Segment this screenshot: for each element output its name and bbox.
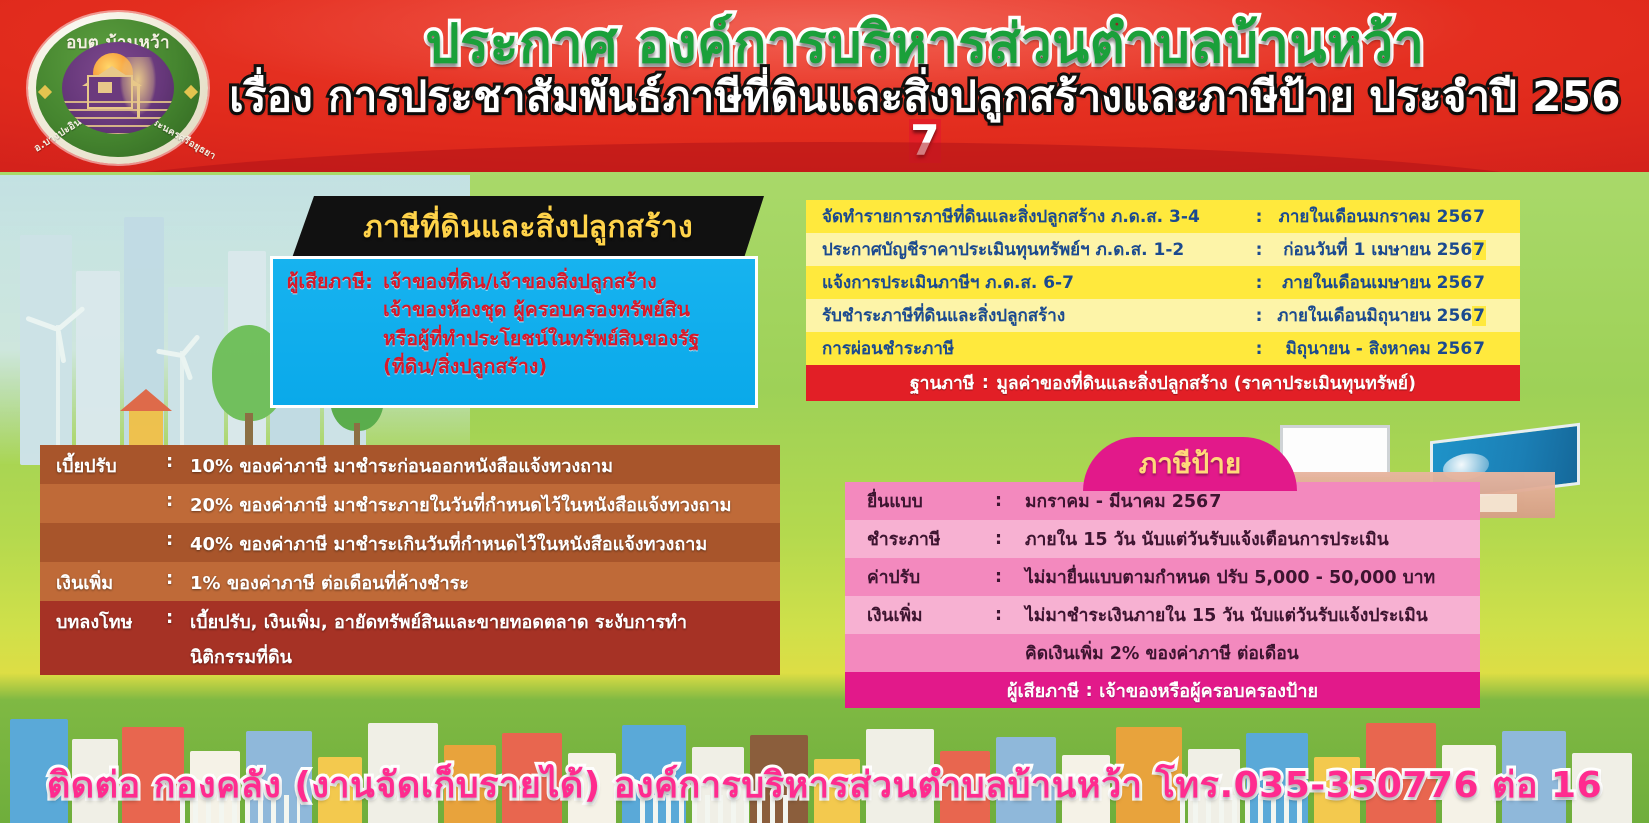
schedule-value-2: ภายในเดือนเมษายน 2567: [1272, 269, 1520, 296]
table-row: แจ้งการประเมินภาษีฯ ภ.ด.ส. 6-7 : ภายในเด…: [806, 266, 1520, 299]
tax-base-bar: ฐานภาษี : มูลค่าของที่ดินและสิ่งปลูกสร้า…: [806, 365, 1520, 401]
table-row: ค่าปรับ : ไม่มายื่นแบบตามกำหนด ปรับ 5,00…: [845, 558, 1480, 596]
schedule-label-4: การผ่อนชำระภาษี: [822, 335, 1246, 362]
penalty-colon-1: :: [166, 490, 190, 511]
schedule-colon-3: :: [1246, 306, 1272, 326]
sign-tax-payer-bar: ผู้เสียภาษี : เจ้าของหรือผู้ครอบครองป้าย: [845, 672, 1480, 708]
sign-colon-1: :: [995, 529, 1025, 549]
sign-value-3: ไม่มาชำระเงินภายใน 15 วัน นับแต่วันรับแจ…: [1025, 601, 1480, 629]
sign-value-text-0: มกราคม - มีนาคม 256: [1025, 492, 1208, 512]
table-row: : 40% ของค่าภาษี มาชำระเกินวันที่กำหนดไว…: [40, 523, 780, 562]
payer-label: ผู้เสียภาษี: [287, 268, 365, 296]
schedule-label-2: แจ้งการประเมินภาษีฯ ภ.ด.ส. 6-7: [822, 269, 1246, 296]
announcement-subtitle-text: เรื่อง การประชาสัมพันธ์ภาษีที่ดินและสิ่ง…: [229, 72, 1621, 121]
penalty-label-4: บทลงโทษ: [56, 607, 166, 636]
house-window-icon: [98, 82, 112, 93]
municipality-logo: อบต.บ้านหว้า อ.บางปะอิน จ.พระนครศรีอยุธย…: [28, 12, 208, 164]
penalty-colon-0: :: [166, 451, 190, 472]
schedule-value-0: ภายในเดือนมกราคม 2567: [1272, 203, 1520, 230]
sign-year-0: 7: [1208, 492, 1222, 512]
schedule-label-3: รับชำระภาษีที่ดินและสิ่งปลูกสร้าง: [822, 302, 1246, 329]
tax-base-label: ฐานภาษี: [910, 369, 974, 397]
payer-value-3: (ที่ดิน/สิ่งปลูกสร้าง): [383, 355, 547, 378]
schedule-year-2: 7: [1472, 273, 1486, 293]
header-titles: ประกาศ องค์การบริหารส่วนตำบลบ้านหว้า เรื…: [215, 16, 1635, 163]
schedule-colon-4: :: [1246, 339, 1272, 359]
payer-value-2: หรือผู้ที่ทำประโยชน์ในทรัพย์สินของรัฐ: [383, 327, 699, 350]
table-row: เบี้ยปรับ : 10% ของค่าภาษี มาชำระก่อนออก…: [40, 445, 780, 484]
announcement-subtitle: เรื่อง การประชาสัมพันธ์ภาษีที่ดินและสิ่ง…: [215, 75, 1635, 163]
schedule-year-0: 7: [1472, 207, 1486, 227]
payer-row-3: (ที่ดิน/สิ่งปลูกสร้าง): [287, 353, 745, 381]
sign-value-1: ภายใน 15 วัน นับแต่วันรับแจ้งเตือนการประ…: [1025, 525, 1480, 553]
sign-continuation: คิดเงินเพิ่ม 2% ของค่าภาษี ต่อเดือน: [1025, 639, 1299, 667]
penalty-value-line2: นิติกรรมที่ดิน: [190, 642, 772, 671]
sign-tax-table: ยื่นแบบ : มกราคม - มีนาคม 2567 ชำระภาษี …: [845, 482, 1480, 708]
penalty-value-4: เบี้ยปรับ, เงินเพิ่ม, อายัดทรัพย์สินและข…: [190, 607, 772, 671]
schedule-value-4: มิถุนายน - สิงหาคม 2567: [1272, 335, 1520, 362]
tax-base-value: มูลค่าของที่ดินและสิ่งปลูกสร้าง (ราคาประ…: [996, 369, 1416, 397]
logo-diamond-left: [38, 85, 52, 99]
tax-schedule-table: จัดทำรายการภาษีที่ดินและสิ่งปลูกสร้าง ภ.…: [806, 200, 1520, 365]
penalty-value-3: 1% ของค่าภาษี ต่อเดือนที่ค้างชำระ: [190, 568, 772, 597]
land-tax-banner-label: ภาษีที่ดินและสิ่งปลูกสร้าง: [363, 204, 693, 251]
table-row: คิดเงินเพิ่ม 2% ของค่าภาษี ต่อเดือน: [845, 634, 1480, 672]
sign-colon-2: :: [995, 567, 1025, 587]
sign-colon-0: :: [995, 491, 1025, 511]
footer-contact: ติดต่อ กองคลัง (งานจัดเก็บรายได้) องค์กา…: [0, 756, 1649, 813]
billboard-blank-icon: [1280, 425, 1390, 477]
table-row: : 20% ของค่าภาษี มาชำระภายในวันที่กำหนดไ…: [40, 484, 780, 523]
schedule-colon-2: :: [1246, 273, 1272, 293]
schedule-value-1: ก่อนวันที่ 1 เมษายน 2567: [1272, 236, 1520, 263]
payer-row-1: เจ้าของห้องชุด ผู้ครอบครองทรัพย์สิน: [287, 296, 745, 324]
penalty-value-1: 20% ของค่าภาษี มาชำระภายในวันที่กำหนดไว้…: [190, 490, 772, 519]
sign-label-1: ชำระภาษี: [867, 525, 995, 553]
table-row: บทลงโทษ : เบี้ยปรับ, เงินเพิ่ม, อายัดทรั…: [40, 601, 780, 675]
schedule-value-text-0: ภายในเดือนมกราคม 256: [1279, 207, 1472, 227]
year-digit-highlight: 7: [909, 119, 941, 163]
sign-value-2: ไม่มายื่นแบบตามกำหนด ปรับ 5,000 - 50,000…: [1025, 563, 1480, 591]
announcement-title: ประกาศ องค์การบริหารส่วนตำบลบ้านหว้า: [215, 16, 1635, 71]
footer-contact-text: ติดต่อ กองคลัง (งานจัดเก็บรายได้) องค์กา…: [47, 765, 1602, 806]
payer-value-1: เจ้าของห้องชุด ผู้ครอบครองทรัพย์สิน: [383, 298, 690, 321]
penalty-value-0: 10% ของค่าภาษี มาชำระก่อนออกหนังสือแจ้งท…: [190, 451, 772, 480]
payer-row-2: หรือผู้ที่ทำประโยชน์ในทรัพย์สินของรัฐ: [287, 325, 745, 353]
payer-colon: :: [365, 268, 383, 296]
penalty-label-3: เงินเพิ่ม: [56, 568, 166, 597]
land-tax-banner: ภาษีที่ดินและสิ่งปลูกสร้าง: [292, 196, 764, 258]
sign-label-2: ค่าปรับ: [867, 563, 995, 591]
sign-payer-value: เจ้าของหรือผู้ครอบครองป้าย: [1099, 676, 1318, 705]
sign-label-3: เงินเพิ่ม: [867, 601, 995, 629]
table-row: ชำระภาษี : ภายใน 15 วัน นับแต่วันรับแจ้ง…: [845, 520, 1480, 558]
sign-label-0: ยื่นแบบ: [867, 487, 995, 515]
table-row: เงินเพิ่ม : ไม่มาชำระเงินภายใน 15 วัน นั…: [845, 596, 1480, 634]
penalty-colon-4: :: [166, 607, 190, 628]
penalty-colon-3: :: [166, 568, 190, 589]
schedule-value-text-3: ภายในเดือนมิถุนายน 256: [1277, 306, 1472, 326]
schedule-value-3: ภายในเดือนมิถุนายน 2567: [1272, 302, 1520, 329]
schedule-colon-0: :: [1246, 207, 1272, 227]
tax-base-colon: :: [974, 373, 996, 393]
schedule-value-text-1: ก่อนวันที่ 1 เมษายน 256: [1283, 240, 1472, 260]
logo-diamond-right: [184, 85, 198, 99]
schedule-year-1: 7: [1472, 240, 1486, 260]
payer-value-0: เจ้าของที่ดิน/เจ้าของสิ่งปลูกสร้าง: [383, 270, 657, 293]
schedule-colon-1: :: [1246, 240, 1272, 260]
sign-colon-3: :: [995, 605, 1025, 625]
schedule-value-text-2: ภายในเดือนเมษายน 256: [1282, 273, 1472, 293]
payer-row-0: ผู้เสียภาษี:เจ้าของที่ดิน/เจ้าของสิ่งปลู…: [287, 268, 745, 296]
penalty-value-2: 40% ของค่าภาษี มาชำระเกินวันที่กำหนดไว้ใ…: [190, 529, 772, 558]
schedule-label-1: ประกาศบัญชีราคาประเมินทุนทรัพย์ฯ ภ.ด.ส. …: [822, 236, 1246, 263]
sign-tax-title: ภาษีป้าย: [1139, 442, 1242, 486]
penalty-table: เบี้ยปรับ : 10% ของค่าภาษี มาชำระก่อนออก…: [40, 445, 780, 675]
schedule-year-3: 7: [1472, 306, 1486, 326]
sign-tax-header: ภาษีป้าย: [1083, 437, 1297, 491]
table-row: จัดทำรายการภาษีที่ดินและสิ่งปลูกสร้าง ภ.…: [806, 200, 1520, 233]
land-tax-payer-box: ผู้เสียภาษี:เจ้าของที่ดิน/เจ้าของสิ่งปลู…: [270, 256, 758, 408]
penalty-value-line1: เบี้ยปรับ, เงินเพิ่ม, อายัดทรัพย์สินและข…: [190, 612, 687, 633]
table-row: ประกาศบัญชีราคาประเมินทุนทรัพย์ฯ ภ.ด.ส. …: [806, 233, 1520, 266]
table-row: เงินเพิ่ม : 1% ของค่าภาษี ต่อเดือนที่ค้า…: [40, 562, 780, 601]
table-row: การผ่อนชำระภาษี : มิถุนายน - สิงหาคม 256…: [806, 332, 1520, 365]
poster-header: อบต.บ้านหว้า อ.บางปะอิน จ.พระนครศรีอยุธย…: [0, 0, 1649, 172]
schedule-label-0: จัดทำรายการภาษีที่ดินและสิ่งปลูกสร้าง ภ.…: [822, 203, 1246, 230]
penalty-label-0: เบี้ยปรับ: [56, 451, 166, 480]
poster-root: อบต.บ้านหว้า อ.บางปะอิน จ.พระนครศรีอยุธย…: [0, 0, 1649, 823]
schedule-year-4: 7: [1472, 339, 1486, 359]
sign-payer-label: ผู้เสียภาษี: [1007, 676, 1079, 705]
sign-value-0: มกราคม - มีนาคม 2567: [1025, 487, 1480, 515]
sign-payer-colon: :: [1079, 680, 1099, 701]
table-row: รับชำระภาษีที่ดินและสิ่งปลูกสร้าง : ภายใ…: [806, 299, 1520, 332]
logo-emblem-inner: [62, 42, 174, 134]
penalty-colon-2: :: [166, 529, 190, 550]
field-rows-icon: [62, 101, 174, 134]
schedule-value-text-4: มิถุนายน - สิงหาคม 256: [1286, 339, 1473, 359]
